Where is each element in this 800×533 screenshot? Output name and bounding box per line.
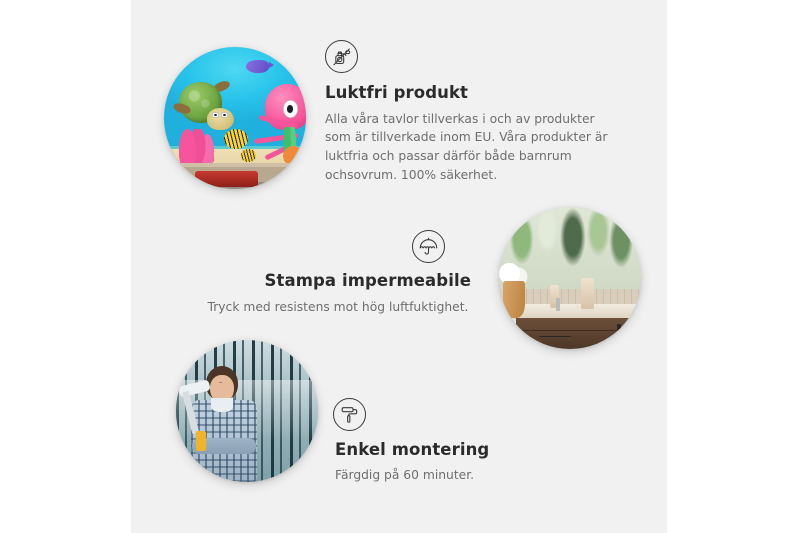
feature-title: Luktfri produkt [325, 83, 625, 104]
paint-roller-icon [333, 398, 366, 431]
room-furniture-strip [164, 163, 306, 189]
gold-vase [503, 281, 524, 318]
woman-paint-roller-forest-photo [176, 340, 318, 482]
promo-panel: Luktfri produkt Alla våra tavlor tillver… [0, 0, 800, 533]
towel-roll [581, 278, 594, 309]
small-yellow-fish-illustration [241, 149, 257, 162]
pink-coral-illustration [178, 129, 221, 166]
feature-title: Stampa impermeabile [193, 271, 483, 292]
feature-title: Enkel montering [333, 440, 603, 461]
faucet [556, 298, 560, 311]
feature-waterproof: Stampa impermeabile Tryck med resistens … [193, 230, 483, 316]
wooden-vanity-cabinet [516, 318, 641, 349]
no-fragrance-icon [325, 40, 358, 73]
paint-roller-grip [196, 431, 206, 451]
bathroom-botanical-wallpaper-photo [499, 207, 641, 349]
underwater-cartoon-mural-photo [164, 47, 306, 189]
feature-body: Alla våra tavlor tillverkas i och av pro… [325, 110, 619, 185]
feature-body: Tryck med resistens mot hög luftfuktighe… [193, 298, 483, 317]
yellow-fish-illustration [224, 129, 248, 149]
sea-turtle-illustration [175, 78, 240, 135]
purple-fish-illustration [246, 60, 269, 73]
feature-body: Färgdig på 60 minuter. [333, 466, 603, 485]
feature-odourless: Luktfri produkt Alla våra tavlor tillver… [325, 40, 625, 184]
feature-easy-install: Enkel montering Färgdig på 60 minuter. [333, 398, 603, 484]
umbrella-icon [412, 230, 445, 263]
